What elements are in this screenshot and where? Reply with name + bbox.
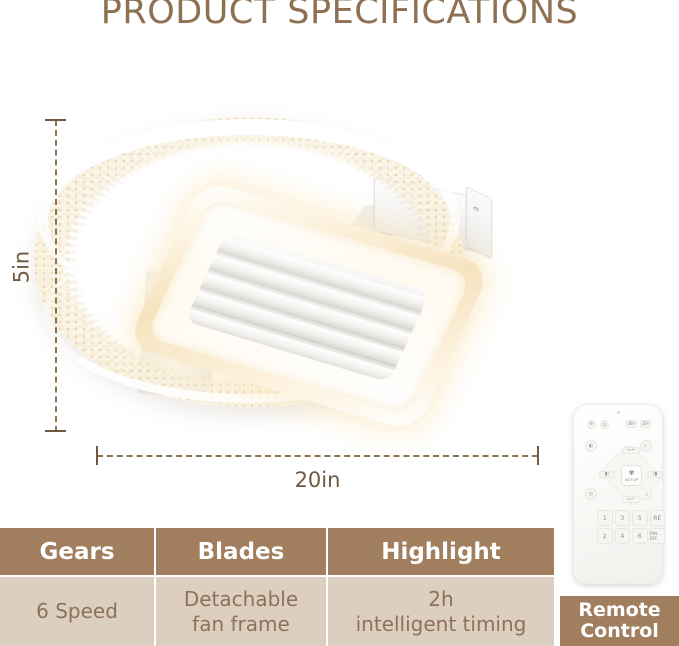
- remote-control-device: ✲ ⏻ 8H 2H ◐ ☾ ◷ ◎ ▭+ ◧ ◨ ▭− ✾ SETUP 1 3 …: [573, 404, 663, 584]
- cell-line: fan frame: [184, 612, 298, 637]
- cell-line: 2h: [356, 587, 527, 612]
- numpad-key-1[interactable]: 1: [597, 510, 613, 526]
- remote-dpad[interactable]: ▭+ ◧ ◨ ▭− ✾ SETUP: [597, 446, 665, 504]
- numpad-key-6[interactable]: 6: [632, 528, 648, 544]
- table-header-gears: Gears: [0, 528, 154, 575]
- product-image: [0, 55, 679, 455]
- cell-line: intelligent timing: [356, 612, 527, 637]
- width-dimension-cap-left: [96, 446, 98, 465]
- width-dimension-cap-right: [537, 446, 539, 465]
- numpad-key-5[interactable]: 5: [632, 510, 648, 526]
- width-dimension-label: 20in: [0, 468, 635, 492]
- fan-blade-cage: [185, 231, 430, 382]
- ir-led-icon: [617, 411, 620, 414]
- numpad-key-3[interactable]: 3: [615, 510, 631, 526]
- specification-table: Gears Blades Highlight 6 Speed Detachabl…: [0, 528, 554, 646]
- numpad-key-2[interactable]: 2: [597, 528, 613, 544]
- numpad-key-4[interactable]: 4: [615, 528, 631, 544]
- table-header-highlight: Highlight: [328, 528, 554, 575]
- remote-numpad[interactable]: 1 3 5 RE 2 4 6 FAN OFF: [597, 510, 665, 544]
- cell-line: Detachable: [184, 587, 298, 612]
- height-dimension-cap-bottom: [45, 430, 66, 432]
- height-dimension-label: 5in: [9, 251, 33, 284]
- power-icon-button[interactable]: ⏻: [600, 420, 609, 429]
- height-dimension-cap-top: [45, 119, 66, 121]
- numpad-key-fan-off[interactable]: FAN OFF: [650, 528, 666, 544]
- setup-button[interactable]: ✾ SETUP: [621, 465, 642, 486]
- remote-label-line1: Remote: [578, 600, 660, 621]
- remote-label-line2: Control: [580, 621, 659, 642]
- fan-left-button[interactable]: ◧: [599, 471, 615, 478]
- sleep-icon-button[interactable]: 8H: [626, 420, 637, 428]
- height-dimension-line: [55, 120, 57, 432]
- page-title: PRODUCT SPECIFICATIONS: [0, 0, 679, 32]
- remote-control-label: Remote Control: [560, 596, 679, 646]
- remote-control-section: ✲ ⏻ 8H 2H ◐ ☾ ◷ ◎ ▭+ ◧ ◨ ▭− ✾ SETUP 1 3 …: [560, 404, 679, 646]
- light-mode-icon-button[interactable]: ✲: [587, 420, 596, 429]
- width-dimension-line: [97, 455, 538, 457]
- fan-icon: ✾: [629, 470, 635, 477]
- speed-down-button[interactable]: ▭−: [622, 496, 640, 503]
- brightness-icon-button[interactable]: ◐: [585, 440, 597, 452]
- numpad-key-reset[interactable]: RE: [650, 510, 666, 526]
- speed-up-button[interactable]: ▭+: [622, 447, 640, 454]
- table-cell-highlight-value: 2h intelligent timing: [328, 577, 554, 646]
- table-cell-blades-value: Detachable fan frame: [156, 577, 326, 646]
- timer-clock-icon-button[interactable]: ◷: [585, 488, 597, 500]
- mount-bracket-side: [466, 186, 492, 259]
- fan-right-button[interactable]: ◨: [647, 471, 663, 478]
- setup-button-label: SETUP: [625, 477, 638, 482]
- table-header-blades: Blades: [156, 528, 326, 575]
- cell-line: 6 Speed: [36, 599, 118, 624]
- table-cell-gears-value: 6 Speed: [0, 577, 154, 646]
- timer-icon-button[interactable]: 2H: [640, 420, 651, 428]
